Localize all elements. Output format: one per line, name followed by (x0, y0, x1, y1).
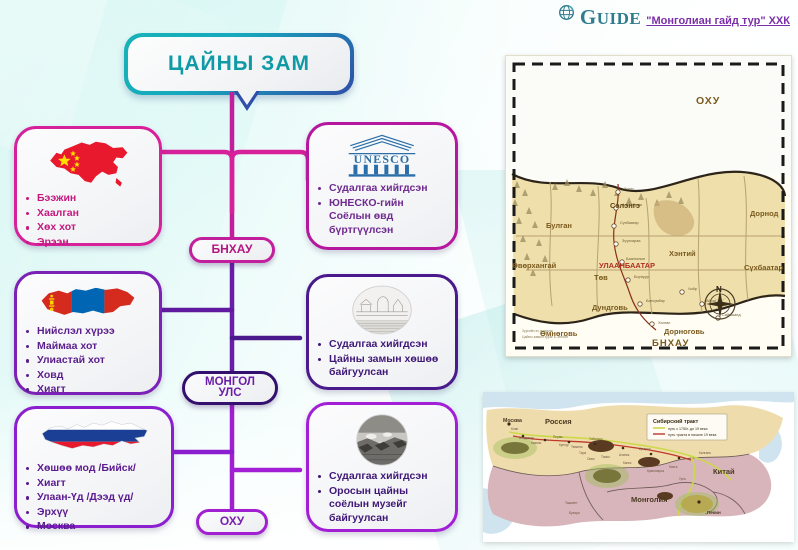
list-item: Цайны замын хөшөө байгуулсан (318, 353, 446, 380)
list-item-label: Оросын цайны (329, 485, 408, 497)
svg-text:Хялган: Хялган (658, 321, 670, 325)
svg-text:путь тракта в начале 19 века: путь тракта в начале 19 века (668, 433, 716, 437)
list-item-label: Судалгаа хийгдсэн (329, 338, 428, 350)
list-item: Улиастай хот (26, 354, 150, 368)
bullet-icon (26, 525, 29, 528)
svg-text:Казань: Казань (531, 441, 542, 445)
svg-text:Владимир: Владимир (519, 436, 534, 440)
bullet-icon (318, 343, 321, 346)
list-item: ЮНЕСКО-гийн Соёлын өвд бүртгүүлсэн (318, 197, 446, 238)
svg-text:Өмнөговь: Өмнөговь (540, 329, 578, 338)
svg-text:Кяхта: Кяхта (669, 465, 678, 469)
unesco-logo-icon: UNESCO (318, 133, 446, 179)
svg-text:Ачинск: Ачинск (619, 453, 630, 457)
svg-text:Китай: Китай (713, 467, 735, 476)
list-item: Хөх хот (26, 221, 150, 235)
logo-wordmark: GUIDE (580, 7, 641, 28)
list-item: Эрээн (26, 236, 150, 250)
svg-text:Россия: Россия (545, 417, 572, 426)
bullet-icon (26, 482, 29, 485)
tea-museum-photo-icon (318, 413, 446, 467)
svg-text:UNESCO: UNESCO (354, 152, 411, 166)
svg-text:Сибирский тракт: Сибирский тракт (653, 418, 699, 425)
card-russia-actions[interactable]: Судалгаа хийгдсэн Оросын цайны соёлын му… (306, 402, 458, 532)
svg-text:путь с 1750г. до 19 века: путь с 1750г. до 19 века (668, 427, 708, 431)
list-item: Хиагт (26, 477, 162, 491)
svg-text:Калганъ: Калганъ (699, 451, 711, 455)
svg-text:Айраг: Айраг (706, 299, 717, 303)
bullet-icon (26, 388, 29, 391)
list-item: Москва (26, 520, 162, 534)
svg-text:Монголия: Монголия (631, 495, 668, 504)
list-item-label: Хаалган (37, 207, 79, 219)
list-item-label: ЮНЕСКО-гийн (329, 197, 404, 209)
svg-text:Тара: Тара (579, 451, 586, 455)
card-russia-cities[interactable]: Хөшөө мод /Бийск/ Хиагт Улаан-Үд /Дээд ү… (14, 406, 174, 528)
card-china-actions[interactable]: UNESCO Судалгаа хийгдсэн ЮНЕСКО-гийн Соё… (306, 122, 458, 250)
list-item: Судалгаа хийгдсэн (318, 338, 446, 352)
svg-text:Дорнод: Дорнод (750, 209, 779, 218)
bullet-icon (318, 358, 321, 361)
node-russia-label: ОХУ (220, 516, 244, 528)
svg-text:Урга: Урга (679, 477, 686, 481)
list-item-label: Судалгаа хийгдсэн (329, 470, 428, 482)
svg-text:Москва: Москва (503, 418, 522, 424)
list-item: Нийслэл хүрээ (26, 325, 150, 339)
list-item-label: Хиагт (37, 477, 66, 489)
list-item: Судалгаа хийгдсэн (318, 182, 446, 196)
russia-action-list: Судалгаа хийгдсэн Оросын цайны соёлын му… (318, 470, 446, 525)
bullet-icon (26, 496, 29, 499)
svg-text:Красноярск: Красноярск (647, 469, 665, 473)
bullet-icon (26, 467, 29, 470)
svg-text:Дундговь: Дундговь (592, 303, 628, 312)
svg-text:Сүхбаатар: Сүхбаатар (620, 221, 639, 225)
globe-icon (558, 4, 575, 21)
list-item: Маймаа хот (26, 340, 150, 354)
list-item-label: Эрхүү (37, 506, 68, 518)
node-mongolia-label-line2: УЛС (205, 388, 255, 400)
list-item-label: Улаан-Үд /Дээд үд/ (37, 491, 133, 503)
list-item-label: Хиагт (37, 383, 66, 395)
russia-city-list: Хөшөө мод /Бийск/ Хиагт Улаан-Үд /Дээд ү… (26, 462, 162, 534)
svg-text:Борнуур: Борнуур (634, 275, 649, 279)
list-item-label: Нийслэл хүрээ (37, 325, 115, 337)
list-item: Хөшөө мод /Бийск/ (26, 462, 162, 476)
svg-text:Булган: Булган (546, 221, 572, 230)
list-item: Улаан-Үд /Дээд үд/ (26, 491, 162, 505)
list-item-label-cont: байгуулсан (329, 366, 446, 380)
bullet-icon (26, 330, 29, 333)
svg-text:БНХАУ: БНХАУ (652, 338, 689, 349)
list-item-label: Хөшөө мод /Бийск/ (37, 462, 136, 474)
list-item-label: Улиастай хот (37, 354, 105, 366)
svg-text:Хэнтий: Хэнтий (669, 249, 696, 258)
company-logo: GUIDE "Монголиан гайд тур" ХХК (558, 4, 790, 28)
bullet-icon (318, 490, 321, 493)
bullet-icon (26, 226, 29, 229)
svg-text:Чойр: Чойр (688, 287, 697, 291)
bullet-icon (26, 345, 29, 348)
list-item: Хиагт (26, 383, 150, 397)
svg-text:Тюмень: Тюмень (571, 445, 583, 449)
logo-word-lead: G (580, 5, 597, 29)
card-china-cities[interactable]: Бээжин Хаалган Хөх хот Эрээн (14, 126, 162, 246)
list-item: Бээжин (26, 192, 150, 206)
list-item-label-cont: Соёлын өвд (329, 210, 446, 224)
list-item-label-cont: соёлын музейг (329, 498, 446, 512)
list-item: Хаалган (26, 207, 150, 221)
svg-text:Бухара: Бухара (569, 511, 580, 515)
svg-text:ОХУ: ОХУ (696, 95, 720, 107)
list-item-label-cont: байгуулсан (329, 512, 446, 526)
node-china[interactable]: БНХАУ (189, 237, 275, 263)
list-item-label: Маймаа хот (37, 340, 97, 352)
bullet-icon (318, 202, 321, 205)
svg-text:Пекин: Пекин (707, 510, 721, 515)
bullet-icon (318, 187, 321, 190)
list-item: Оросын цайны соёлын музейг байгуулсан (318, 485, 446, 526)
svg-text:Томск: Томск (601, 455, 610, 459)
svg-text:Омск: Омск (587, 457, 595, 461)
list-item-label: Судалгаа хийгдсэн (329, 182, 428, 194)
svg-text:Канск: Канск (623, 461, 632, 465)
list-item: Ховд (26, 369, 150, 383)
bullet-icon (26, 197, 29, 200)
russia-map-flag-icon (26, 417, 162, 459)
logo-word-rest: UIDE (597, 9, 642, 28)
list-item-label-cont: бүртгүүлсэн (329, 224, 446, 238)
list-item-label: Ховд (37, 369, 63, 381)
svg-text:УЛААНБААТАР: УЛААНБААТАР (599, 261, 655, 270)
svg-text:Хиагт: Хиагт (624, 187, 634, 191)
node-mongolia[interactable]: МОНГОЛ УЛС (182, 371, 278, 405)
bullet-icon (26, 374, 29, 377)
svg-text:Иркутск: Иркутск (639, 447, 651, 451)
list-item: Эрхүү (26, 506, 162, 520)
svg-text:Клин: Клин (511, 427, 518, 431)
bullet-icon (26, 241, 29, 244)
monument-sketch-icon (318, 285, 446, 335)
list-item-label: Бээжин (37, 192, 76, 204)
card-mongolia-actions[interactable]: Судалгаа хийгдсэн Цайны замын хөшөө байг… (306, 274, 458, 390)
card-mongolia-cities[interactable]: Нийслэл хүрээ Маймаа хот Улиастай хот Хо… (14, 271, 162, 395)
svg-text:Сэлэнгэ: Сэлэнгэ (610, 201, 640, 210)
svg-text:Зүүнхараа: Зүүнхараа (622, 239, 641, 243)
china-city-list: Бээжин Хаалган Хөх хот Эрээн (26, 192, 150, 249)
svg-text:Тобольск: Тобольск (589, 437, 603, 441)
node-russia[interactable]: ОХУ (196, 509, 268, 535)
bullet-icon (26, 511, 29, 514)
svg-text:Сүхбаатар: Сүхбаатар (744, 263, 783, 272)
svg-text:Батсүмбэр: Батсүмбэр (646, 299, 665, 303)
mongolia-tea-road-map[interactable]: Зургийн эх сурвалж Цайны замын зураг Б.Э… (505, 55, 792, 357)
infographic-canvas: GUIDE "Монголиан гайд тур" ХХК ЦАЙНЫ ЗАМ (0, 0, 798, 550)
svg-text:Сайншанд: Сайншанд (722, 313, 741, 317)
bullet-icon (318, 475, 321, 478)
svg-text:Өвөрхангай: Өвөрхангай (512, 261, 557, 270)
svg-text:Пермь: Пермь (553, 435, 563, 439)
bullet-icon (26, 212, 29, 215)
svg-text:Төв: Төв (594, 273, 608, 282)
svg-text:N: N (716, 285, 722, 294)
list-item-label: Хөх хот (37, 221, 76, 233)
svg-text:Дорноговь: Дорноговь (664, 327, 705, 336)
logo-company-name: "Монголиан гайд тур" ХХК (646, 15, 790, 28)
mongolia-city-list: Нийслэл хүрээ Маймаа хот Улиастай хот Хо… (26, 325, 150, 397)
svg-text:Ташкент: Ташкент (565, 501, 578, 505)
bullet-icon (26, 359, 29, 362)
siberian-route-map[interactable]: Сибирский тракт путь с 1750г. до 19 века… (483, 392, 794, 542)
list-item-label: Эрээн (37, 236, 69, 248)
list-item-label: Цайны замын хөшөө (329, 353, 438, 365)
mongolia-action-list: Судалгаа хийгдсэн Цайны замын хөшөө байг… (318, 338, 446, 380)
svg-text:Кунгур: Кунгур (559, 443, 569, 447)
mongolia-map-flag-icon (26, 282, 150, 322)
node-china-label: БНХАУ (212, 244, 253, 256)
china-action-list: Судалгаа хийгдсэн ЮНЕСКО-гийн Соёлын өвд… (318, 182, 446, 237)
list-item: Судалгаа хийгдсэн (318, 470, 446, 484)
list-item-label: Москва (37, 520, 75, 532)
china-map-flag-icon (26, 137, 150, 189)
